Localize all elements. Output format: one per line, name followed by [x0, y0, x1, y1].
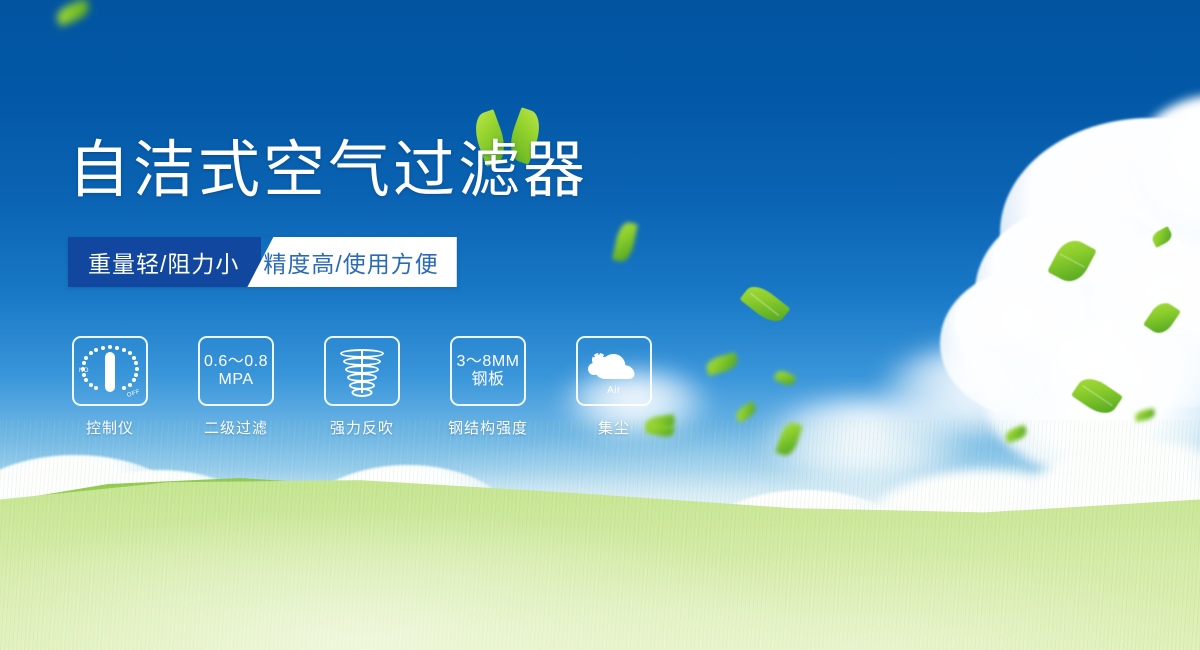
feature-icon-box: 0.6〜0.8 MPA: [198, 336, 274, 406]
feature-item-pressure[interactable]: 0.6〜0.8 MPA 二级过滤: [194, 336, 278, 438]
hero-banner: 自洁式空气过滤器 重量轻/阻力小 精度高/使用方便: [0, 0, 1200, 650]
feature-label: 钢结构强度: [448, 417, 528, 438]
pressure-text-icon: 0.6〜0.8 MPA: [204, 353, 268, 390]
control-dial-icon: NO OFF: [81, 343, 139, 399]
feature-item-steel[interactable]: 3〜8MM 钢板 钢结构强度: [446, 336, 530, 438]
dial-off-label: OFF: [126, 389, 140, 399]
feature-label: 控制仪: [86, 417, 134, 438]
air-cloud-icon: Air: [586, 349, 642, 393]
cloud-wisp: [880, 348, 1070, 433]
feature-icon-box: 3〜8MM 钢板: [450, 336, 526, 406]
page-title: 自洁式空气过滤器: [68, 140, 588, 202]
feature-label: 二级过滤: [204, 417, 268, 438]
feature-item-control[interactable]: NO OFF 控制仪: [68, 336, 152, 438]
feature-item-dust[interactable]: Air 集尘: [572, 336, 656, 438]
subtitle-bar: 重量轻/阻力小 精度高/使用方便: [68, 237, 457, 287]
steel-plate-text-icon: 3〜8MM 钢板: [457, 353, 520, 390]
air-label: Air: [586, 385, 642, 396]
subtitle-left-tag: 重量轻/阻力小: [68, 237, 261, 287]
feature-icon-box: NO OFF: [72, 336, 148, 406]
feature-item-blowback[interactable]: 强力反吹: [320, 336, 404, 438]
feature-label: 强力反吹: [330, 417, 394, 438]
subtitle-right-tag: 精度高/使用方便: [247, 237, 456, 287]
feature-label: 集尘: [598, 417, 630, 438]
feature-icon-box: Air: [576, 336, 652, 406]
dial-on-label: NO: [79, 368, 89, 374]
blowback-coil-icon: [338, 347, 386, 395]
dial-needle: [105, 352, 115, 392]
feature-list: NO OFF 控制仪 0.6〜0.8 MPA 二级过滤: [68, 336, 656, 438]
feature-icon-box: [324, 336, 400, 406]
